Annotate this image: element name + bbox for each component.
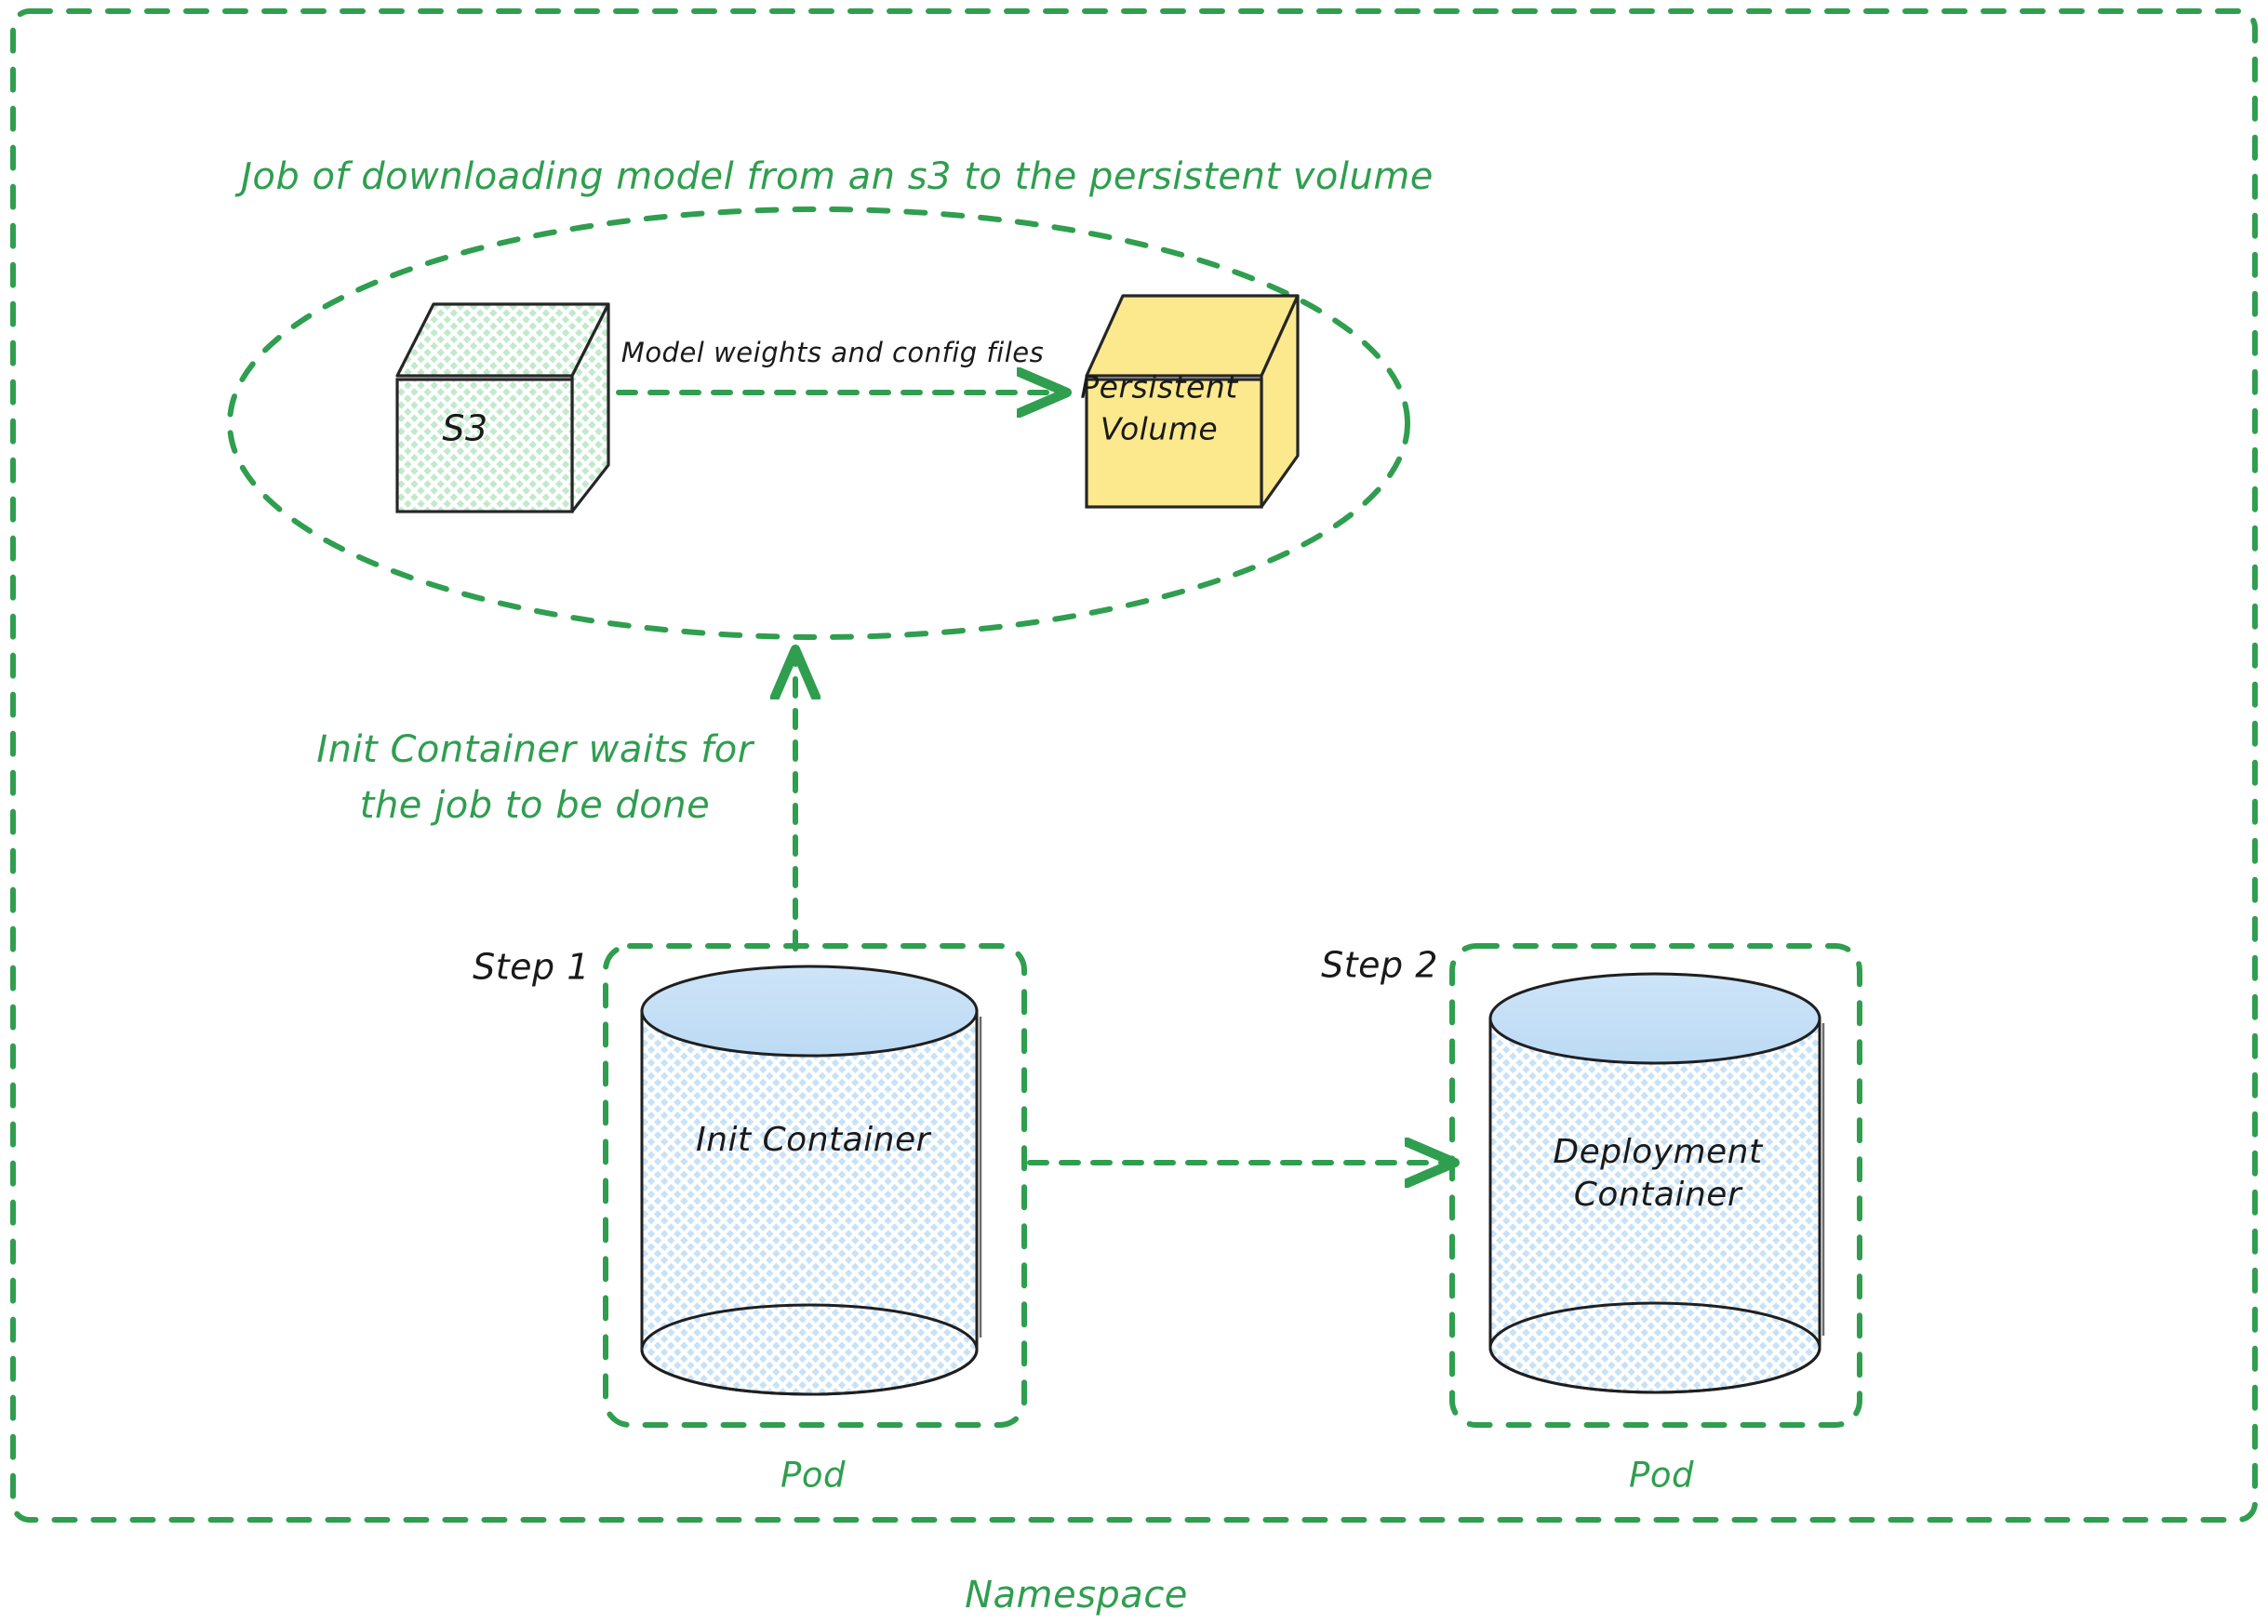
persistent-volume-label-line1: Persistent [1080,369,1238,406]
diagram-canvas: S3 Persistent Volume Model weights and c… [0,0,2268,1624]
init-container-cylinder: Init Container [642,966,981,1394]
namespace-label: Namespace [965,1574,1188,1617]
persistent-volume-label-line2: Volume [1101,411,1218,447]
persistent-volume-cube: Persistent Volume [1080,296,1298,507]
pod-2-label: Pod [1629,1456,1694,1496]
step-2-label: Step 2 [1321,945,1438,986]
pod-2[interactable]: Deployment Container [1452,946,1860,1425]
step-1-label: Step 1 [473,947,590,988]
s3-label: S3 [442,408,487,449]
init-container-label: Init Container [696,1121,932,1159]
deployment-container-label-line2: Container [1574,1176,1743,1214]
wait-note-line1: Init Container waits for [316,728,754,771]
s3-cube: S3 [397,304,608,512]
deployment-container-cylinder: Deployment Container [1490,974,1823,1392]
deployment-container-label-line1: Deployment [1553,1133,1764,1171]
job-group-title: Job of downloading model from an s3 to t… [234,155,1434,198]
model-transfer-arrow-label: Model weights and config files [621,337,1044,368]
kubernetes-architecture-diagram: S3 Persistent Volume Model weights and c… [0,0,2268,1624]
pod-1[interactable]: Init Container [606,946,1024,1425]
pod-1-label: Pod [780,1456,846,1496]
wait-note-line2: the job to be done [360,784,710,827]
